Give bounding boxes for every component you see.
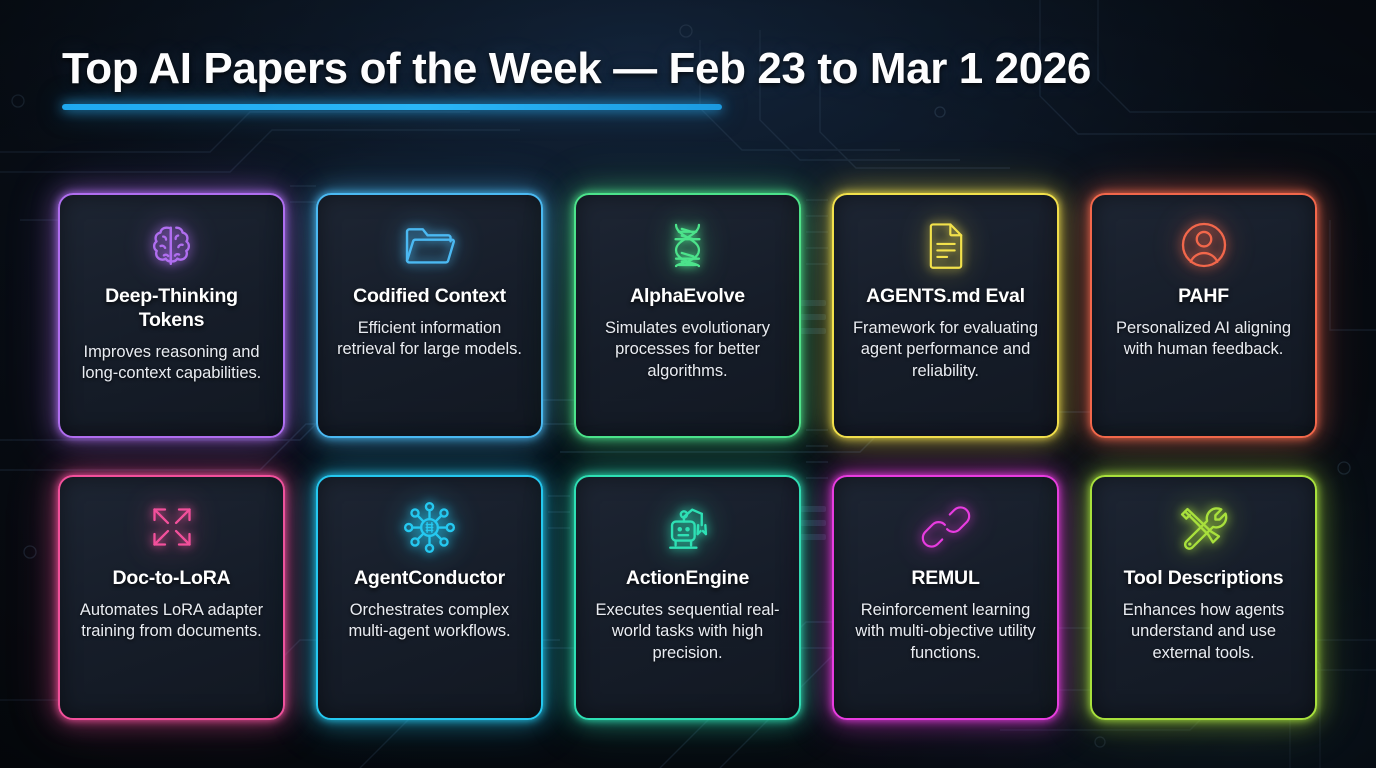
paper-card[interactable]: ActionEngine Executes sequential real-wo… (574, 475, 801, 720)
paper-card-description: Improves reasoning and long-context capa… (73, 342, 270, 385)
dna-helix-icon (589, 213, 786, 277)
paper-card-title: ActionEngine (626, 567, 749, 591)
user-avatar-icon (1105, 213, 1302, 277)
paper-card[interactable]: Deep-Thinking Tokens Improves reasoning … (58, 193, 285, 438)
chain-link-icon (847, 495, 1044, 559)
paper-card-description: Automates LoRA adapter training from doc… (73, 600, 270, 643)
paper-card-description: Enhances how agents understand and use e… (1105, 600, 1302, 664)
paper-card[interactable]: AgentConductor Orchestrates complex mult… (316, 475, 543, 720)
paper-card[interactable]: PAHF Personalized AI aligning with human… (1090, 193, 1317, 438)
paper-card-description: Efficient information retrieval for larg… (331, 318, 528, 361)
paper-card-grid: Deep-Thinking Tokens Improves reasoning … (58, 193, 1318, 720)
paper-card-description: Personalized AI aligning with human feed… (1105, 318, 1302, 361)
header: Top AI Papers of the Week — Feb 23 to Ma… (62, 44, 1091, 110)
paper-card[interactable]: Tool Descriptions Enhances how agents un… (1090, 475, 1317, 720)
paper-card-title: PAHF (1178, 285, 1229, 309)
paper-card[interactable]: AlphaEvolve Simulates evolutionary proce… (574, 193, 801, 438)
folder-icon (331, 213, 528, 277)
wrench-screwdriver-icon (1105, 495, 1302, 559)
paper-card-description: Framework for evaluating agent performan… (847, 318, 1044, 382)
paper-card-title: AgentConductor (354, 567, 505, 591)
paper-card-description: Executes sequential real-world tasks wit… (589, 600, 786, 664)
brain-icon (73, 213, 270, 277)
paper-card-description: Orchestrates complex multi-agent workflo… (331, 600, 528, 643)
paper-card-title: Doc-to-LoRA (112, 567, 230, 591)
paper-card[interactable]: Doc-to-LoRA Automates LoRA adapter train… (58, 475, 285, 720)
paper-card-title: Tool Descriptions (1124, 567, 1284, 591)
paper-card-title: AGENTS.md Eval (866, 285, 1025, 309)
paper-card[interactable]: Codified Context Efficient information r… (316, 193, 543, 438)
robot-arm-icon (589, 495, 786, 559)
paper-card[interactable]: AGENTS.md Eval Framework for evaluating … (832, 193, 1059, 438)
paper-card[interactable]: REMUL Reinforcement learning with multi-… (832, 475, 1059, 720)
network-hub-icon (331, 495, 528, 559)
paper-card-title: REMUL (911, 567, 979, 591)
paper-card-title: Codified Context (353, 285, 506, 309)
title-underline-accent (62, 104, 722, 110)
paper-card-title: Deep-Thinking Tokens (73, 285, 270, 333)
paper-card-description: Simulates evolutionary processes for bet… (589, 318, 786, 382)
document-icon (847, 213, 1044, 277)
paper-card-title: AlphaEvolve (630, 285, 745, 309)
paper-card-description: Reinforcement learning with multi-object… (847, 600, 1044, 664)
page-title: Top AI Papers of the Week — Feb 23 to Ma… (62, 44, 1091, 94)
expand-arrows-icon (73, 495, 270, 559)
